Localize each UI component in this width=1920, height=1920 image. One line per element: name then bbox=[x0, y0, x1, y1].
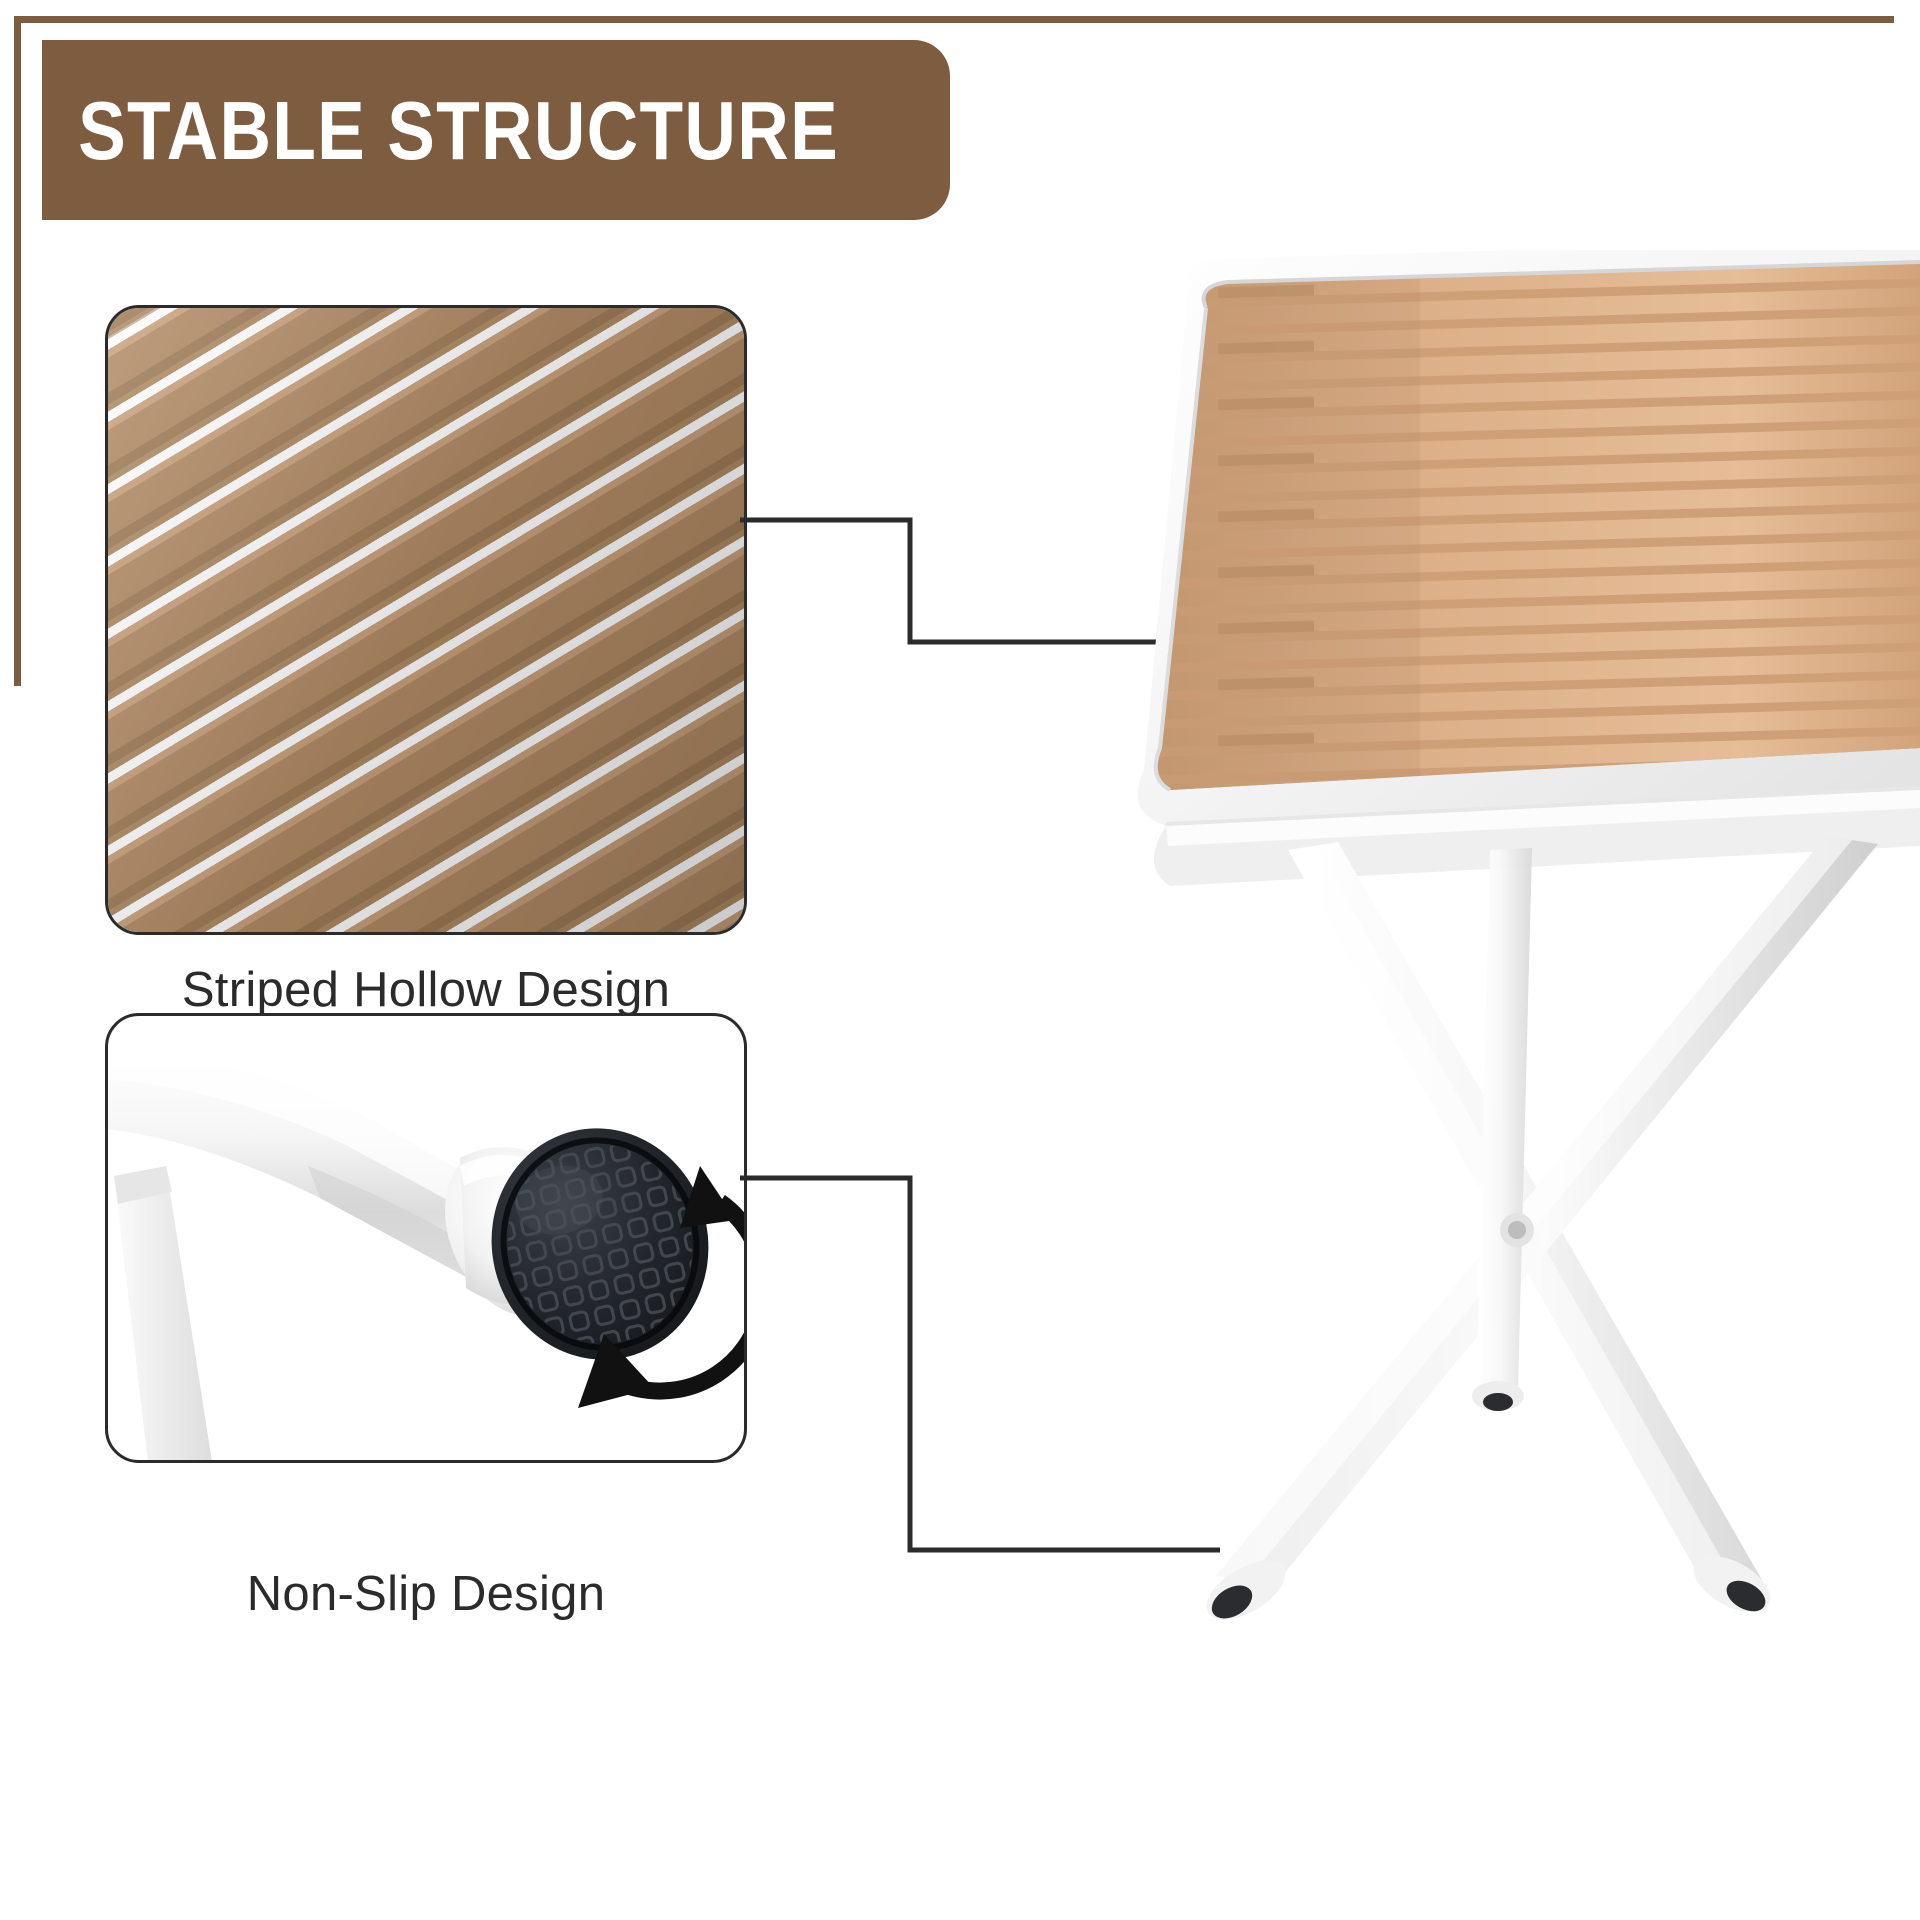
non-slip-foot-closeup bbox=[108, 1016, 747, 1463]
header-bracket-mask bbox=[21, 190, 81, 710]
callout-card-striped-hollow bbox=[105, 305, 747, 935]
infographic-canvas: STABLE STRUCTURE Striped Hollow Design bbox=[0, 0, 1920, 1920]
leg-support-post bbox=[1476, 848, 1532, 1392]
folding-side-table bbox=[1020, 250, 1920, 1640]
caption-striped-hollow: Striped Hollow Design bbox=[105, 962, 747, 1018]
caption-non-slip: Non-Slip Design bbox=[105, 1566, 747, 1622]
header-banner: STABLE STRUCTURE bbox=[42, 40, 950, 220]
callout-card-non-slip bbox=[105, 1013, 747, 1463]
page-title: STABLE STRUCTURE bbox=[42, 89, 839, 172]
slat-shading-overlay bbox=[108, 308, 744, 932]
foot-cap-center bbox=[1472, 1381, 1524, 1411]
